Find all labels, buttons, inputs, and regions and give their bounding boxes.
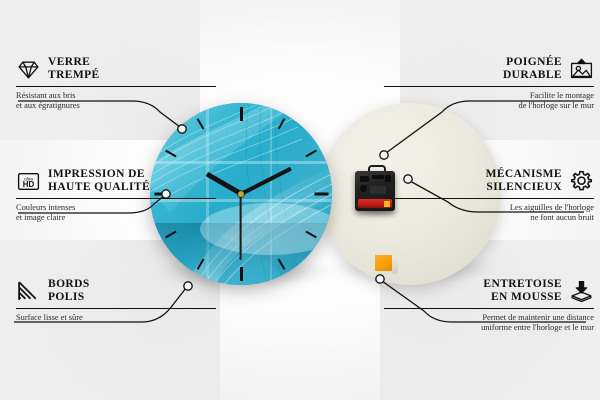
- feature-verre-trempe: VERRE TREMPÉ Résistant aux bris et aux é…: [16, 56, 216, 111]
- feature-description: Résistant aux bris et aux égratignures: [16, 91, 216, 111]
- feature-desc-line1: Permet de maintenir une distance: [482, 313, 594, 322]
- feature-title-line2: EN MOUSSE: [491, 291, 562, 303]
- feature-desc-line1: Résistant aux bris: [16, 91, 76, 100]
- feature-title-line2: DURABLE: [503, 69, 562, 81]
- feature-description: Surface lisse et sûre: [16, 313, 216, 323]
- feature-poignee-durable: POIGNÉE DURABLE Facilite le montage de l…: [384, 56, 594, 111]
- wall-hanger-icon: [569, 57, 594, 82]
- feature-desc-line1: Couleurs intenses: [16, 203, 75, 212]
- ultra-hd-icon: ultra HD: [16, 169, 41, 194]
- feature-title-line1: IMPRESSION DE: [48, 168, 145, 180]
- foam-spacer: [375, 255, 392, 271]
- feature-description: Facilite le montage de l'horloge sur le …: [384, 91, 594, 111]
- feature-title-line2: TREMPÉ: [48, 69, 100, 81]
- feature-title: MÉCANISME SILENCIEUX: [486, 168, 562, 194]
- feature-title-line2: POLIS: [48, 291, 85, 303]
- feature-header: ENTRETOISE EN MOUSSE: [384, 278, 594, 304]
- feature-rule: [16, 86, 216, 87]
- foam-spacer-icon: [569, 279, 594, 304]
- feature-header: VERRE TREMPÉ: [16, 56, 216, 82]
- feature-title: ENTRETOISE EN MOUSSE: [483, 278, 562, 304]
- feature-desc-line2: et aux égratignures: [16, 101, 80, 110]
- feature-description: Les aiguilles de l'horloge ne font aucun…: [384, 203, 594, 223]
- feature-title-line1: MÉCANISME: [486, 168, 562, 180]
- second-hand: [240, 194, 242, 260]
- feature-desc-line2: uniforme entre l'horloge et le mur: [481, 323, 594, 332]
- feature-title-line1: VERRE: [48, 56, 90, 68]
- clock-hub: [238, 191, 244, 197]
- feature-description: Permet de maintenir une distance uniform…: [384, 313, 594, 333]
- feature-rule: [384, 86, 594, 87]
- feature-desc-line1: Les aiguilles de l'horloge: [510, 203, 594, 212]
- movement-detail: [372, 175, 384, 179]
- feature-impression-haute-qualite: ultra HD IMPRESSION DE HAUTE QUALITÉ Cou…: [16, 168, 216, 223]
- movement-detail: [360, 176, 369, 182]
- feature-header: MÉCANISME SILENCIEUX: [384, 168, 594, 194]
- hour-tick: [240, 107, 243, 121]
- feature-description: Couleurs intenses et image claire: [16, 203, 216, 223]
- feature-title: IMPRESSION DE HAUTE QUALITÉ: [48, 168, 150, 194]
- feature-rule: [16, 198, 216, 199]
- foam-spacer-side: [392, 258, 398, 274]
- diamond-icon: [16, 57, 41, 82]
- feature-rule: [384, 198, 594, 199]
- feature-mecanisme-silencieux: MÉCANISME SILENCIEUX Les aiguilles de l'…: [384, 168, 594, 223]
- feature-bords-polis: BORDS POLIS Surface lisse et sûre: [16, 278, 216, 323]
- hour-tick: [314, 193, 328, 196]
- feature-title: POIGNÉE DURABLE: [503, 56, 562, 82]
- feature-desc-line2: ne font aucun bruit: [531, 213, 595, 222]
- gear-icon: [569, 169, 594, 194]
- feature-entretoise-en-mousse: ENTRETOISE EN MOUSSE Permet de maintenir…: [384, 278, 594, 333]
- feature-title-line2: SILENCIEUX: [486, 181, 562, 193]
- feature-rule: [16, 308, 216, 309]
- feature-desc-line2: de l'horloge sur le mur: [519, 101, 594, 110]
- feature-desc-line1: Facilite le montage: [530, 91, 594, 100]
- feature-title-line1: POIGNÉE: [506, 56, 562, 68]
- feature-title-line1: ENTRETOISE: [483, 278, 562, 290]
- feature-title: BORDS POLIS: [48, 278, 90, 304]
- svg-text:HD: HD: [23, 180, 35, 189]
- movement-detail: [360, 185, 367, 192]
- infographic-canvas: VERRE TREMPÉ Résistant aux bris et aux é…: [0, 0, 600, 400]
- polished-edges-icon: [16, 279, 41, 304]
- feature-title: VERRE TREMPÉ: [48, 56, 100, 82]
- feature-header: POIGNÉE DURABLE: [384, 56, 594, 82]
- feature-header: ultra HD IMPRESSION DE HAUTE QUALITÉ: [16, 168, 216, 194]
- feature-title-line2: HAUTE QUALITÉ: [48, 181, 150, 193]
- feature-rule: [384, 308, 594, 309]
- feature-desc-line2: et image claire: [16, 213, 65, 222]
- feature-desc-line1: Surface lisse et sûre: [16, 313, 83, 322]
- feature-header: BORDS POLIS: [16, 278, 216, 304]
- hour-tick: [240, 267, 243, 281]
- feature-title-line1: BORDS: [48, 278, 90, 290]
